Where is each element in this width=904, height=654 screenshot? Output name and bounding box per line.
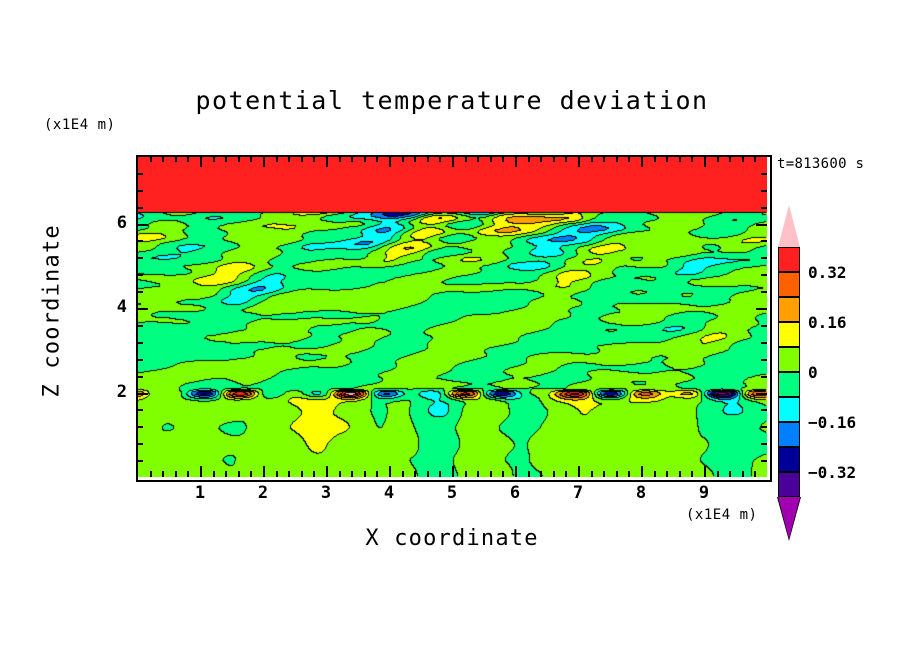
colorbar-band [778, 472, 800, 497]
tick-mark [137, 257, 143, 259]
tick-mark [150, 156, 152, 162]
tick-mark [761, 460, 767, 462]
tick-mark [162, 471, 164, 477]
tick-mark [213, 471, 215, 477]
tick-mark [326, 466, 328, 477]
tick-mark [137, 460, 143, 462]
tick-mark [691, 156, 693, 162]
tick-mark [616, 156, 618, 162]
tick-mark [666, 471, 668, 477]
tick-mark [263, 156, 265, 167]
tick-mark [540, 471, 542, 477]
tick-mark [691, 471, 693, 477]
tick-mark [591, 156, 593, 162]
x-tick-label: 8 [626, 483, 656, 503]
colorbar-band [778, 272, 800, 297]
tick-mark [761, 325, 767, 327]
tick-mark [754, 156, 756, 162]
tick-mark [313, 471, 315, 477]
colorbar-band [778, 397, 800, 422]
tick-mark [761, 207, 767, 209]
tick-mark [137, 393, 148, 395]
plot-frame [136, 155, 772, 482]
y-tick-label: 2 [97, 382, 127, 402]
colorbar-over-arrow [778, 205, 800, 247]
tick-mark [502, 471, 504, 477]
x-axis-label: X coordinate [0, 526, 904, 551]
tick-mark [288, 156, 290, 162]
tick-mark [477, 471, 479, 477]
tick-mark [761, 376, 767, 378]
tick-mark [175, 156, 177, 162]
colorbar-tick-label: 0 [808, 363, 818, 382]
x-tick-label: 5 [437, 483, 467, 503]
tick-mark [628, 471, 630, 477]
tick-mark [263, 466, 265, 477]
tick-mark [187, 471, 189, 477]
tick-mark [175, 471, 177, 477]
tick-mark [754, 471, 756, 477]
tick-mark [729, 156, 731, 162]
tick-mark [761, 443, 767, 445]
tick-mark [729, 471, 731, 477]
tick-mark [565, 156, 567, 162]
tick-mark [490, 471, 492, 477]
tick-mark [427, 156, 429, 162]
tick-mark [301, 471, 303, 477]
tick-mark [761, 173, 767, 175]
tick-mark [439, 156, 441, 162]
tick-mark [301, 156, 303, 162]
tick-mark [389, 466, 391, 477]
tick-mark [276, 156, 278, 162]
tick-mark [761, 359, 767, 361]
tick-mark [326, 156, 328, 167]
tick-mark [187, 156, 189, 162]
tick-mark [704, 466, 706, 477]
tick-mark [756, 308, 767, 310]
tick-mark [641, 156, 643, 167]
tick-mark [414, 156, 416, 162]
tick-mark [553, 471, 555, 477]
tick-mark [641, 466, 643, 477]
tick-mark [250, 156, 252, 162]
tick-mark [603, 471, 605, 477]
y-tick-label: 4 [97, 297, 127, 317]
chart-title: potential temperature deviation [0, 86, 904, 115]
x-tick-label: 3 [311, 483, 341, 503]
tick-mark [761, 291, 767, 293]
tick-mark [761, 274, 767, 276]
colorbar-band [778, 247, 800, 272]
tick-mark [137, 240, 143, 242]
tick-mark [477, 156, 479, 162]
tick-mark [414, 471, 416, 477]
tick-mark [339, 156, 341, 162]
colorbar-band [778, 322, 800, 347]
tick-mark [376, 156, 378, 162]
tick-mark [225, 471, 227, 477]
tick-mark [137, 224, 148, 226]
tick-mark [654, 156, 656, 162]
tick-mark [591, 471, 593, 477]
tick-mark [761, 190, 767, 192]
tick-mark [137, 426, 143, 428]
tick-mark [756, 393, 767, 395]
tick-mark [565, 471, 567, 477]
colorbar-under-arrow [778, 497, 800, 539]
tick-mark [162, 156, 164, 162]
tick-mark [238, 156, 240, 162]
colorbar-tick-label: 0.32 [808, 263, 847, 282]
tick-mark [761, 240, 767, 242]
tick-mark [276, 471, 278, 477]
tick-mark [761, 257, 767, 259]
tick-mark [150, 471, 152, 477]
x-tick-label: 2 [248, 483, 278, 503]
tick-mark [553, 156, 555, 162]
tick-mark [761, 342, 767, 344]
colorbar-tick-label: −0.16 [808, 413, 856, 432]
tick-mark [502, 156, 504, 162]
figure-canvas-area: potential temperature deviation (x1E4 m)… [0, 0, 904, 654]
x-tick-label: 7 [563, 483, 593, 503]
tick-mark [717, 471, 719, 477]
tick-mark [761, 426, 767, 428]
tick-mark [351, 156, 353, 162]
tick-mark [616, 471, 618, 477]
tick-mark [137, 291, 143, 293]
tick-mark [578, 156, 580, 167]
tick-mark [578, 466, 580, 477]
tick-mark [439, 471, 441, 477]
tick-mark [137, 409, 143, 411]
tick-mark [137, 359, 143, 361]
tick-mark [313, 156, 315, 162]
tick-mark [603, 156, 605, 162]
tick-mark [364, 471, 366, 477]
tick-mark [756, 224, 767, 226]
tick-mark [452, 466, 454, 477]
colorbar-band [778, 297, 800, 322]
tick-mark [200, 156, 202, 167]
tick-mark [679, 156, 681, 162]
y-axis-unit-label: (x1E4 m) [44, 117, 115, 133]
tick-mark [137, 308, 148, 310]
tick-mark [137, 274, 143, 276]
tick-mark [704, 156, 706, 167]
tick-mark [376, 471, 378, 477]
tick-mark [389, 156, 391, 167]
x-tick-label: 1 [185, 483, 215, 503]
colorbar-band [778, 372, 800, 397]
tick-mark [761, 409, 767, 411]
x-tick-label: 6 [500, 483, 530, 503]
tick-mark [628, 156, 630, 162]
tick-mark [137, 190, 143, 192]
tick-mark [452, 156, 454, 167]
tick-mark [137, 376, 143, 378]
tick-mark [528, 156, 530, 162]
tick-mark [364, 156, 366, 162]
tick-mark [137, 173, 143, 175]
colorbar-tick-label: 0.16 [808, 313, 847, 332]
y-axis-label: Z coordinate [40, 238, 65, 398]
time-annotation: t=813600 s [777, 156, 864, 172]
x-tick-label: 4 [374, 483, 404, 503]
tick-mark [351, 471, 353, 477]
tick-mark [742, 471, 744, 477]
tick-mark [490, 156, 492, 162]
x-axis-unit-label: (x1E4 m) [686, 507, 757, 523]
colorbar [778, 205, 800, 523]
colorbar-tick-label: −0.32 [808, 463, 856, 482]
tick-mark [666, 156, 668, 162]
y-tick-label: 6 [97, 213, 127, 233]
tick-mark [288, 471, 290, 477]
tick-mark [515, 466, 517, 477]
tick-mark [339, 471, 341, 477]
tick-mark [137, 443, 143, 445]
tick-mark [225, 156, 227, 162]
tick-mark [465, 156, 467, 162]
tick-mark [402, 156, 404, 162]
tick-mark [540, 156, 542, 162]
tick-mark [742, 156, 744, 162]
tick-mark [528, 471, 530, 477]
tick-mark [717, 156, 719, 162]
tick-mark [137, 342, 143, 344]
tick-mark [200, 466, 202, 477]
tick-mark [213, 156, 215, 162]
colorbar-band [778, 347, 800, 372]
colorbar-band [778, 422, 800, 447]
x-tick-label: 9 [689, 483, 719, 503]
tick-mark [427, 471, 429, 477]
tick-mark [137, 207, 143, 209]
tick-mark [402, 471, 404, 477]
tick-mark [515, 156, 517, 167]
tick-mark [250, 471, 252, 477]
tick-mark [137, 325, 143, 327]
tick-mark [465, 471, 467, 477]
tick-mark [654, 471, 656, 477]
colorbar-band [778, 447, 800, 472]
tick-mark [238, 471, 240, 477]
tick-mark [679, 471, 681, 477]
